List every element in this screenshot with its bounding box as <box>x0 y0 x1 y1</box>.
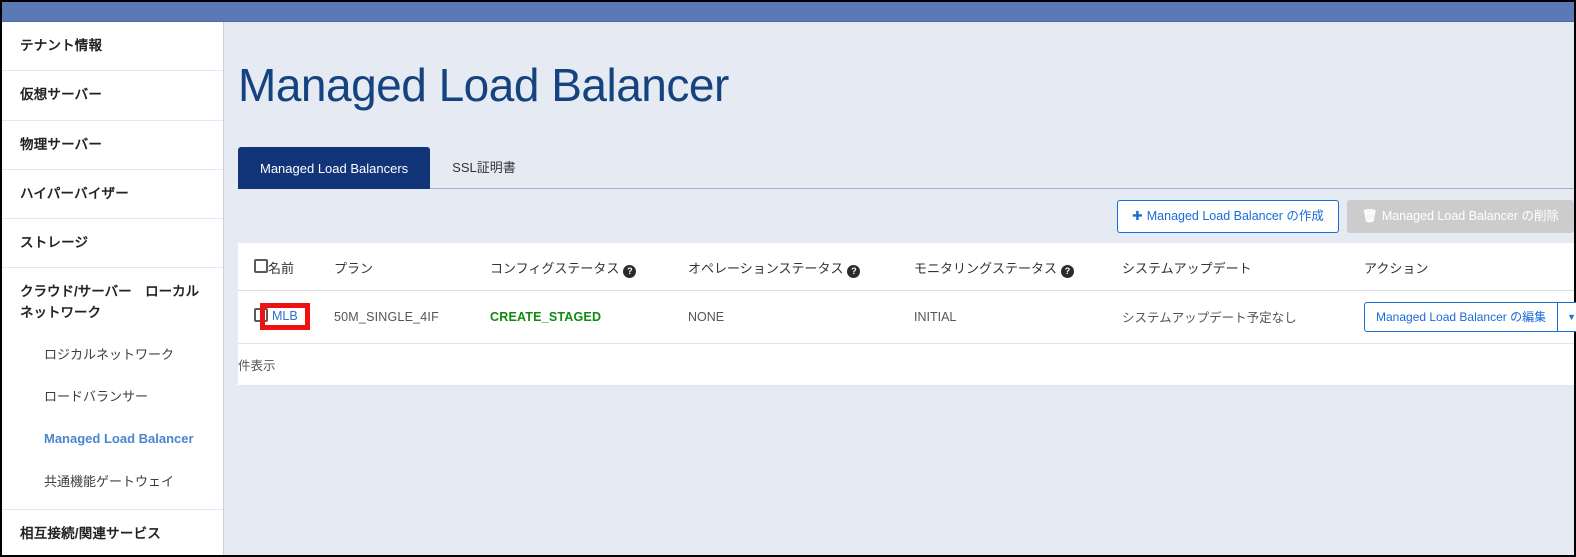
table-footer-row: 件表示 <box>238 343 1574 385</box>
trash-icon: 🗑 <box>1362 209 1378 223</box>
column-plan-label: プラン <box>334 261 373 276</box>
sidebar-item-load-balancer[interactable]: ロードバランサー <box>2 376 223 418</box>
sidebar-item-label: 相互接続/関連サービス <box>20 526 161 541</box>
help-icon[interactable]: ? <box>1061 265 1074 278</box>
sidebar-item-label: 物理サーバー <box>20 137 102 152</box>
sidebar-item-storage[interactable]: ストレージ <box>2 219 223 268</box>
sidebar-item-label: 仮想サーバー <box>20 87 102 102</box>
column-select-all <box>238 244 268 291</box>
row-count-label: 件表示 <box>238 359 276 373</box>
sidebar-item-logical-network[interactable]: ロジカルネットワーク <box>2 334 223 376</box>
sidebar-item-tenant-info[interactable]: テナント情報 <box>2 22 223 71</box>
sidebar-item-label: ハイパーバイザー <box>20 186 129 201</box>
row-action-cell: Managed Load Balancer の編集 ▼ <box>1364 290 1574 343</box>
column-plan: プラン <box>334 244 490 291</box>
tab-strip: Managed Load Balancers SSL証明書 <box>238 142 1574 189</box>
row-monitoring-status-cell: INITIAL <box>914 290 1122 343</box>
edit-split-button: Managed Load Balancer の編集 ▼ <box>1364 302 1576 332</box>
sidebar-item-label: ロジカルネットワーク <box>44 347 174 362</box>
column-name-label: 名前 <box>268 261 294 276</box>
column-action: アクション <box>1364 244 1574 291</box>
sidebar-item-label: 共通機能ゲートウェイ <box>44 474 174 489</box>
create-button-label: Managed Load Balancer の作成 <box>1147 209 1324 223</box>
sidebar-navigation: テナント情報 仮想サーバー 物理サーバー ハイパーバイザー ストレージ クラウド… <box>2 22 224 555</box>
config-status-badge: CREATE_STAGED <box>490 310 601 324</box>
top-header-bar <box>2 2 1574 22</box>
column-monitoring-status-label: モニタリングステータス <box>914 261 1057 276</box>
body-region: テナント情報 仮想サーバー 物理サーバー ハイパーバイザー ストレージ クラウド… <box>2 22 1574 555</box>
sidebar-item-interconnect-services[interactable]: 相互接続/関連サービス <box>2 510 223 555</box>
create-managed-load-balancer-button[interactable]: ✚Managed Load Balancer の作成 <box>1117 200 1339 233</box>
sidebar-group-label: クラウド/サーバー ローカルネットワーク <box>20 284 199 320</box>
column-operation-status: オペレーションステータス? <box>688 244 914 291</box>
row-system-update-cell: システムアップデート予定なし <box>1122 290 1364 343</box>
row-config-status-cell: CREATE_STAGED <box>490 290 688 343</box>
plus-icon: ✚ <box>1132 209 1142 223</box>
help-icon[interactable]: ? <box>847 265 860 278</box>
sidebar-group-cloud-network: クラウド/サーバー ローカルネットワーク ロジカルネットワーク ロードバランサー… <box>2 268 223 510</box>
row-operation-status-cell: NONE <box>688 290 914 343</box>
column-monitoring-status: モニタリングステータス? <box>914 244 1122 291</box>
delete-button-label: Managed Load Balancer の削除 <box>1382 209 1559 223</box>
row-count-cell: 件表示 <box>238 343 1574 385</box>
help-icon[interactable]: ? <box>623 265 636 278</box>
app-window: テナント情報 仮想サーバー 物理サーバー ハイパーバイザー ストレージ クラウド… <box>2 2 1574 555</box>
sidebar-item-label: ロードバランサー <box>44 389 148 404</box>
select-all-checkbox[interactable] <box>254 259 268 273</box>
table-header-row: 名前 プラン コンフィグステータス? オペレーションステータス? <box>238 244 1574 291</box>
highlight-annotation-box: MLB <box>260 303 310 330</box>
tab-label: Managed Load Balancers <box>260 161 408 176</box>
column-name: 名前 <box>268 244 334 291</box>
managed-load-balancer-table: 名前 プラン コンフィグステータス? オペレーションステータス? <box>238 244 1574 386</box>
sidebar-item-virtual-server[interactable]: 仮想サーバー <box>2 71 223 120</box>
table-body: MLB 50M_SINGLE_4IF CREATE_STAGED NONE IN… <box>238 290 1574 385</box>
tab-managed-load-balancers[interactable]: Managed Load Balancers <box>238 147 430 189</box>
main-content: Managed Load Balancer Managed Load Balan… <box>224 22 1574 555</box>
sidebar-group-header[interactable]: クラウド/サーバー ローカルネットワーク <box>2 268 223 334</box>
table-row: MLB 50M_SINGLE_4IF CREATE_STAGED NONE IN… <box>238 290 1574 343</box>
managed-load-balancer-name-link[interactable]: MLB <box>272 309 298 323</box>
row-name-cell: MLB <box>268 290 334 343</box>
edit-managed-load-balancer-button[interactable]: Managed Load Balancer の編集 <box>1365 303 1557 331</box>
sidebar-item-label: Managed Load Balancer <box>44 431 194 446</box>
managed-load-balancer-table-panel: 名前 プラン コンフィグステータス? オペレーションステータス? <box>238 243 1574 386</box>
row-plan-cell: 50M_SINGLE_4IF <box>334 290 490 343</box>
delete-managed-load-balancer-button[interactable]: 🗑Managed Load Balancer の削除 <box>1347 200 1574 233</box>
action-toolbar: ✚Managed Load Balancer の作成 🗑Managed Load… <box>224 189 1574 243</box>
column-operation-status-label: オペレーションステータス <box>688 261 843 276</box>
column-config-status-label: コンフィグステータス <box>490 261 619 276</box>
column-system-update: システムアップデート <box>1122 244 1364 291</box>
sidebar-item-managed-load-balancer[interactable]: Managed Load Balancer <box>2 418 223 460</box>
chevron-down-icon[interactable]: ▼ <box>1557 303 1576 331</box>
sidebar-item-common-gateway[interactable]: 共通機能ゲートウェイ <box>2 461 223 503</box>
table-header: 名前 プラン コンフィグステータス? オペレーションステータス? <box>238 244 1574 291</box>
tab-ssl-certificate[interactable]: SSL証明書 <box>430 143 538 189</box>
page-title: Managed Load Balancer <box>224 22 1574 108</box>
sidebar-item-hypervisor[interactable]: ハイパーバイザー <box>2 170 223 219</box>
sidebar-item-label: ストレージ <box>20 235 88 250</box>
column-action-label: アクション <box>1364 261 1428 276</box>
column-config-status: コンフィグステータス? <box>490 244 688 291</box>
tab-label: SSL証明書 <box>452 160 516 175</box>
sidebar-item-physical-server[interactable]: 物理サーバー <box>2 121 223 170</box>
sidebar-item-label: テナント情報 <box>20 38 102 53</box>
column-system-update-label: システムアップデート <box>1122 261 1252 276</box>
